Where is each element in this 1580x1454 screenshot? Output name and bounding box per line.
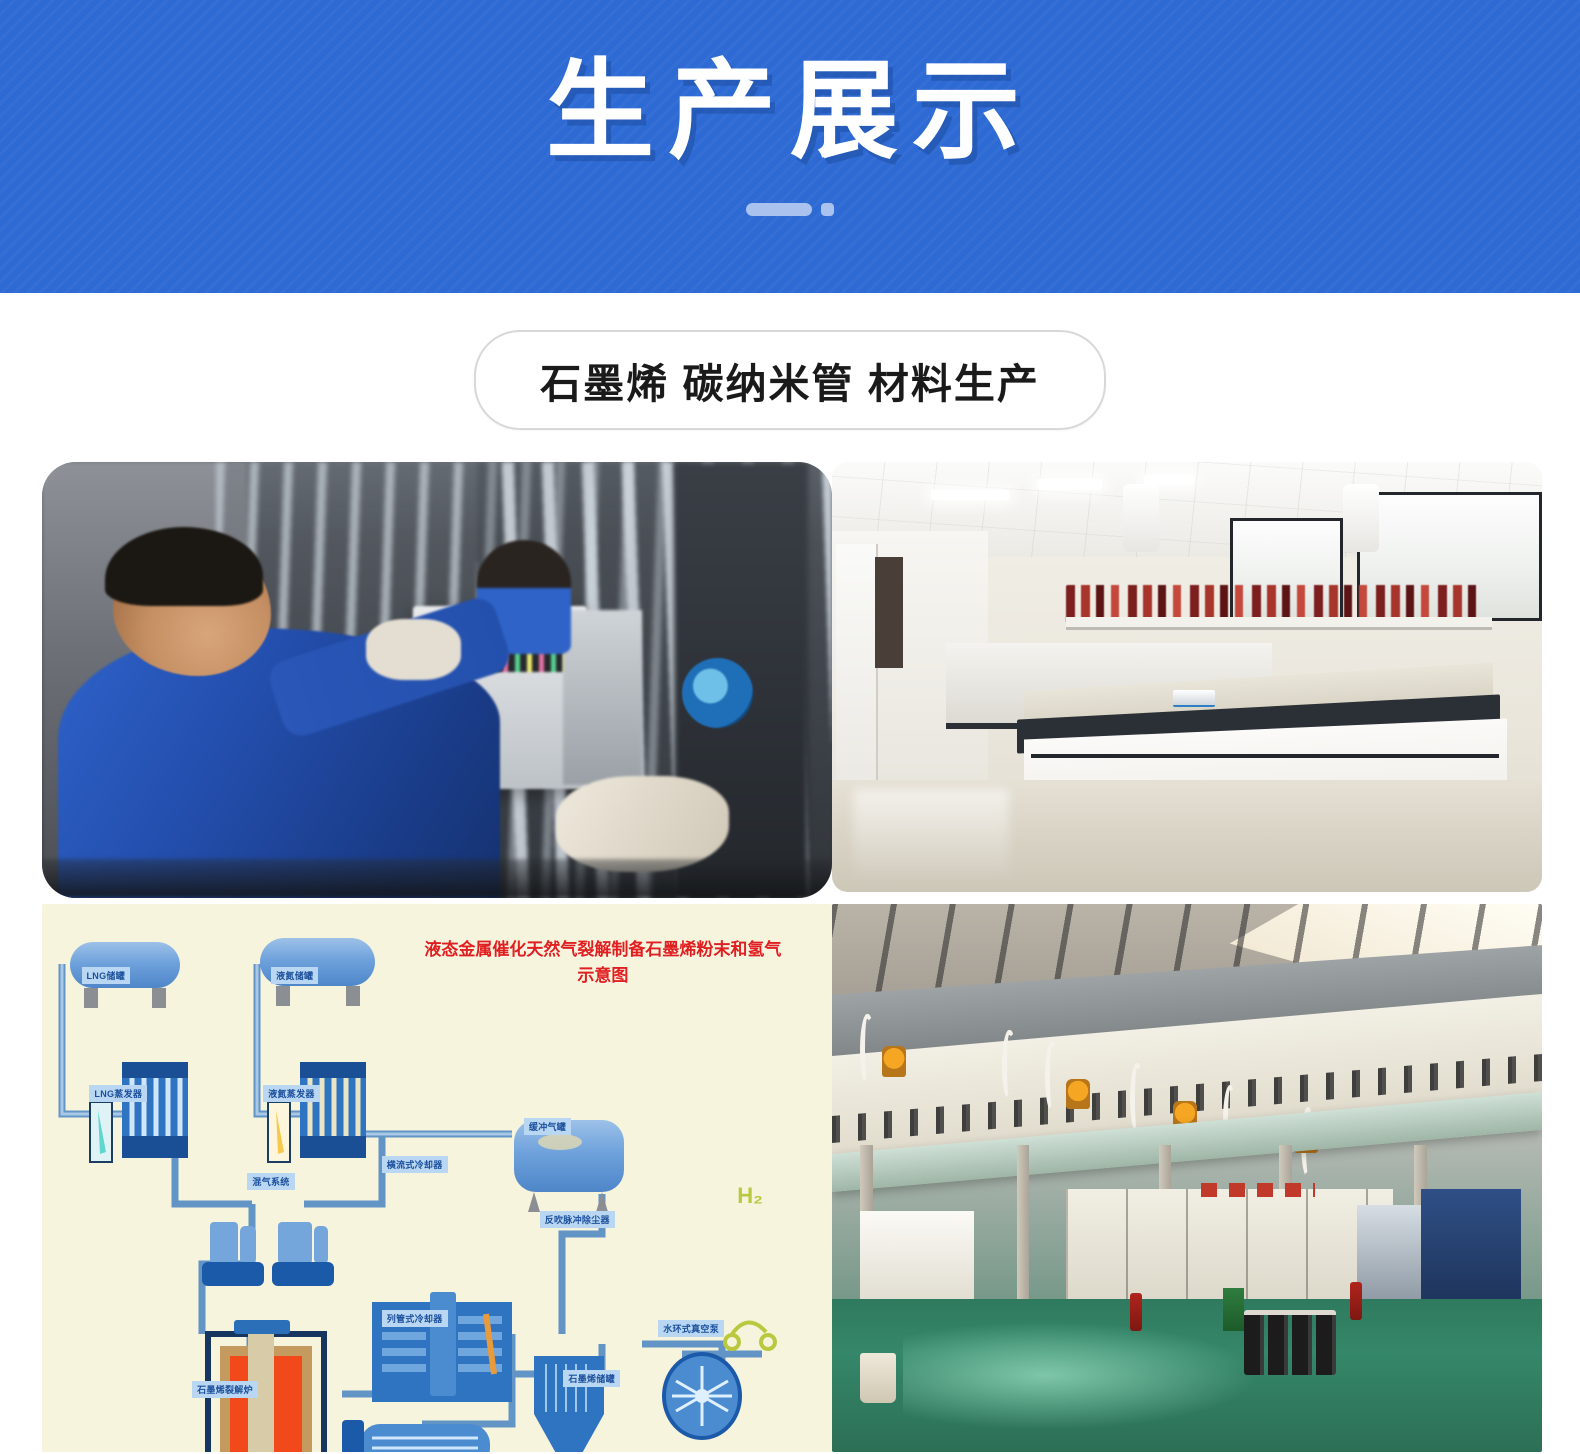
green-bin [1223,1288,1244,1332]
doorway [875,557,903,669]
ceiling-light [931,490,1009,500]
diagram-label-cracking-furnace: 石墨烯裂解炉 [192,1381,258,1398]
fume-extractor-arm [1343,484,1379,553]
ln2-vaporiser [268,1062,366,1162]
diagram-label-ln2-vaporiser: 液氮蒸发器 [263,1085,320,1102]
floor-reflection [853,789,1009,884]
floor-reflection [903,1321,1258,1431]
gallery-item-diagram[interactable]: 液态金属催化天然气裂解制备石墨烯粉末和氢气 示意图 LNG储罐 液氮储罐 LNG… [42,904,832,1452]
cabinet-indicator-strip [1201,1183,1315,1196]
photo-content [42,462,832,898]
fume-extractor-arm [1123,484,1159,553]
decoration-dot-icon [821,203,834,216]
white-equipment-unit [860,1211,974,1299]
photo-workers-control-panel[interactable] [42,462,832,898]
diagram-label-mixing-system: 混气系统 [247,1173,294,1190]
bucket [860,1353,896,1402]
diagram-label-tube-cooler: 列管式冷却器 [382,1310,448,1327]
fire-extinguisher [1130,1293,1141,1331]
title-decoration [0,203,1580,216]
lng-vaporiser [90,1062,188,1162]
flex-hose [860,1014,874,1085]
blue-machine [1421,1189,1520,1310]
subtitle-pill: 石墨烯 碳纳米管 材料生产 [474,330,1106,430]
diagram-title-line1: 液态金属催化天然气裂解制备石墨烯粉末和氢气 [382,937,824,963]
diagram-label-buffer-tank: 缓冲气罐 [524,1118,571,1135]
decoration-bar-icon [746,203,812,216]
subtitle-container: 石墨烯 碳纳米管 材料生产 [0,330,1580,430]
cabinet-seam [1031,754,1500,758]
cross-flow-cooler [372,1292,512,1402]
header-banner: 生产展示 [0,0,1580,293]
diagram-label-lng-tank: LNG储罐 [82,967,131,984]
production-showcase-page: 生产展示 石墨烯 碳纳米管 材料生产 [0,0,1580,1454]
product-barrels [1244,1310,1336,1376]
diagram-label-ln2-tank: 液氮储罐 [271,967,318,984]
control-valve [1066,1079,1090,1109]
fire-extinguisher [1350,1282,1361,1320]
gallery-item-workers[interactable] [42,462,832,898]
shell-tube-cooler [342,1420,490,1452]
diagram-label-vacuum-pump: 水环式真空泵 [658,1320,724,1337]
blue-valve-icon [682,658,753,728]
bench-shelf [1066,617,1492,630]
flex-hose [1002,1030,1016,1101]
diagram-process-flow[interactable]: 液态金属催化天然气裂解制备石墨烯粉末和氢气 示意图 LNG储罐 液氮储罐 LNG… [42,904,832,1452]
material-roll [1357,1205,1421,1304]
photo-content [832,904,1542,1452]
left-cabinet [836,544,879,815]
worker-glove-right [556,776,730,872]
gallery-item-laboratory[interactable] [832,462,1542,892]
photo-laboratory[interactable] [832,462,1542,892]
diagram-label-hydrogen: H₂ [737,1183,763,1209]
support-column [1017,1145,1030,1320]
lab-instrument [1173,690,1216,707]
diagram-label-graphene-tank: 石墨烯储罐 [563,1370,620,1387]
ceiling-light [1038,479,1102,489]
hydrogen-vehicle-icon [725,1322,775,1349]
water-ring-vacuum-pump [664,1354,740,1438]
diagram-label-crossflow-cooler: 横流式冷却器 [382,1156,448,1173]
photo-content [832,462,1542,892]
diagram-title-line2: 示意图 [382,963,824,989]
gallery-item-workshop[interactable] [832,904,1542,1452]
photo-factory-workshop[interactable] [832,904,1542,1452]
diagram-title: 液态金属催化天然气裂解制备石墨烯粉末和氢气 示意图 [382,937,824,990]
diagram-label-dust-collector: 反吹脉冲除尘器 [540,1211,615,1228]
page-title: 生产展示 [0,46,1580,176]
control-valve [882,1046,906,1076]
worker-glove-left [366,619,461,680]
gas-mixing-system [202,1222,334,1286]
floor-shadow [42,859,832,898]
gallery-grid: 液态金属催化天然气裂解制备石墨烯粉末和氢气 示意图 LNG储罐 液氮储罐 LNG… [42,462,1538,1452]
control-panel-secondary [563,610,642,784]
diagram-label-lng-vaporiser: LNG蒸发器 [89,1085,147,1102]
